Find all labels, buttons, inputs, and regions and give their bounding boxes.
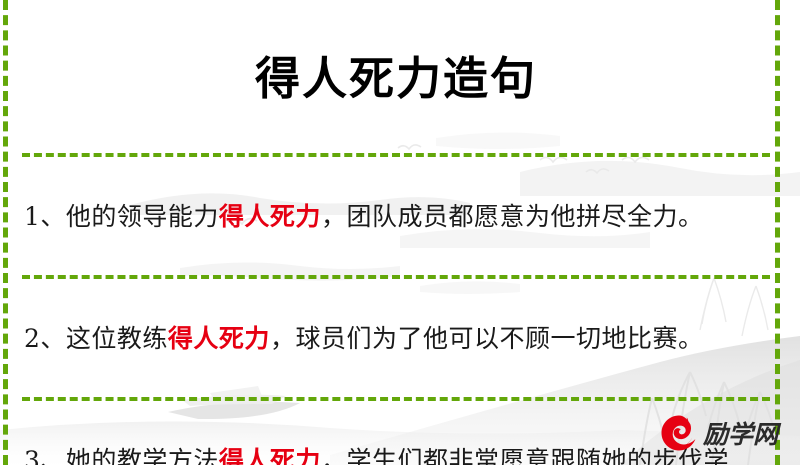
divider-1 xyxy=(22,275,770,279)
site-logo-text: 励学网 xyxy=(703,415,778,451)
sentence-2-number: 2、 xyxy=(24,324,66,353)
divider-top xyxy=(22,153,770,157)
example-sentence-1: 1、他的领导能力得人死力，团队成员都愿意为他拼尽全力。 xyxy=(20,182,772,250)
red-swirl-flame-icon xyxy=(659,413,699,453)
sentence-2-before: 这位教练 xyxy=(66,324,168,353)
content-column: 得人死力造句 1、他的领导能力得人死力，团队成员都愿意为他拼尽全力。 2、这位教… xyxy=(0,30,800,465)
sentence-2-after: ，球员们为了他可以不顾一切地比赛。 xyxy=(270,324,704,353)
right-dashed-rail xyxy=(775,0,780,465)
divider-2 xyxy=(22,397,770,401)
sentence-2-highlight: 得人死力 xyxy=(168,324,270,353)
page-title: 得人死力造句 xyxy=(20,30,772,123)
sentence-1-after: ，团队成员都愿意为他拼尽全力。 xyxy=(321,202,704,231)
sentence-1-before: 他的领导能力 xyxy=(66,202,219,231)
sentence-example-page: 得人死力造句 1、他的领导能力得人死力，团队成员都愿意为他拼尽全力。 2、这位教… xyxy=(0,0,800,465)
sentence-3-highlight: 得人死力 xyxy=(219,446,321,465)
sentence-3-before: 她的教学方法 xyxy=(66,446,219,465)
left-dashed-rail xyxy=(3,0,8,465)
site-logo[interactable]: 励学网 xyxy=(659,413,778,453)
sentence-3-number: 3、 xyxy=(24,446,66,465)
sentence-1-number: 1、 xyxy=(24,202,66,231)
sentence-1-highlight: 得人死力 xyxy=(219,202,321,231)
example-sentence-2: 2、这位教练得人死力，球员们为了他可以不顾一切地比赛。 xyxy=(20,304,772,372)
